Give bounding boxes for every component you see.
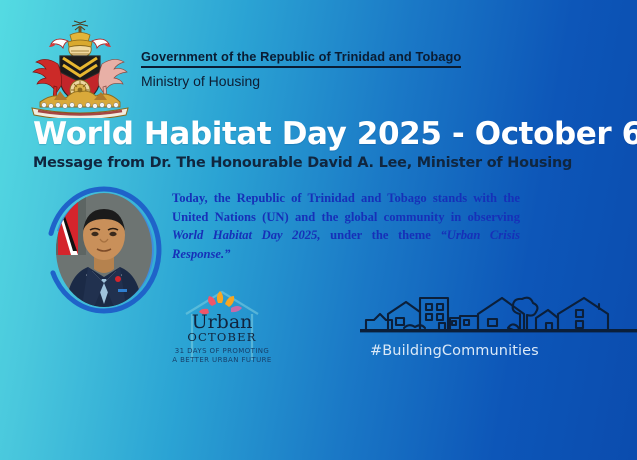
urban-tagline-line1: 31 DAYS OF PROMOTING — [175, 347, 270, 355]
minister-portrait — [56, 193, 152, 307]
poster-canvas: Government of the Republic of Trinidad a… — [0, 0, 637, 460]
page-subtitle: Message from Dr. The Honourable David A.… — [33, 155, 572, 171]
ministry-title: Ministry of Housing — [141, 73, 611, 89]
city-skyline-icon — [360, 288, 637, 336]
government-title: Government of the Republic of Trinidad a… — [141, 49, 461, 68]
urban-october-logo: Urban OCTOBER 31 DAYS OF PROMOTING A BET… — [168, 288, 276, 366]
government-header: Government of the Republic of Trinidad a… — [141, 48, 611, 89]
avatar — [45, 185, 163, 315]
message-body: Today, the Republic of Trinidad and Toba… — [172, 189, 520, 263]
urban-tagline-line2: A BETTER URBAN FUTURE — [172, 356, 271, 364]
october-wordmark: OCTOBER — [187, 330, 256, 344]
page-title: World Habitat Day 2025 - October 6 — [33, 116, 637, 152]
message-segment-3: under the theme — [321, 228, 441, 242]
hashtag-label: #BuildingCommunities — [370, 343, 525, 359]
message-segment-2: World Habitat Day 2025, — [172, 228, 321, 242]
message-segment-1: Today, the Republic of Trinidad and Toba… — [172, 191, 520, 224]
coat-of-arms-icon — [24, 20, 136, 118]
